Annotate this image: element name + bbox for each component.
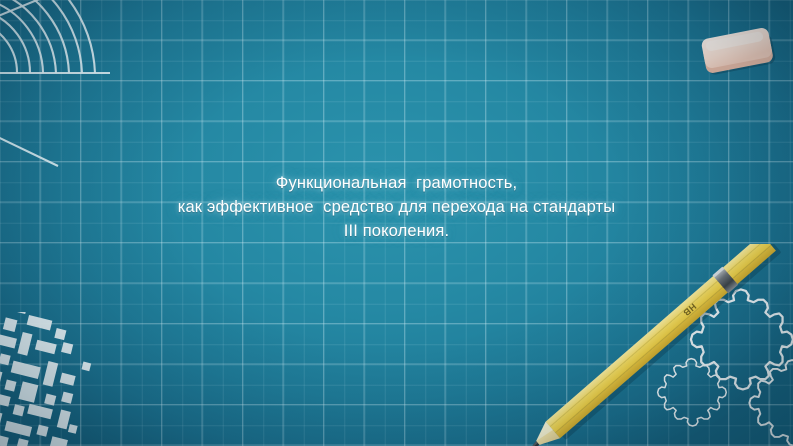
slide-title: Функциональная грамотность, как эффектив…: [0, 172, 793, 243]
presentation-slide: HB Функциональная грамотность, как эффек…: [0, 0, 793, 446]
slide-title-line-1: Функциональная грамотность,: [0, 172, 793, 196]
slide-title-line-2: как эффективное средство для перехода на…: [0, 196, 793, 220]
slide-title-line-3: III поколения.: [0, 220, 793, 244]
